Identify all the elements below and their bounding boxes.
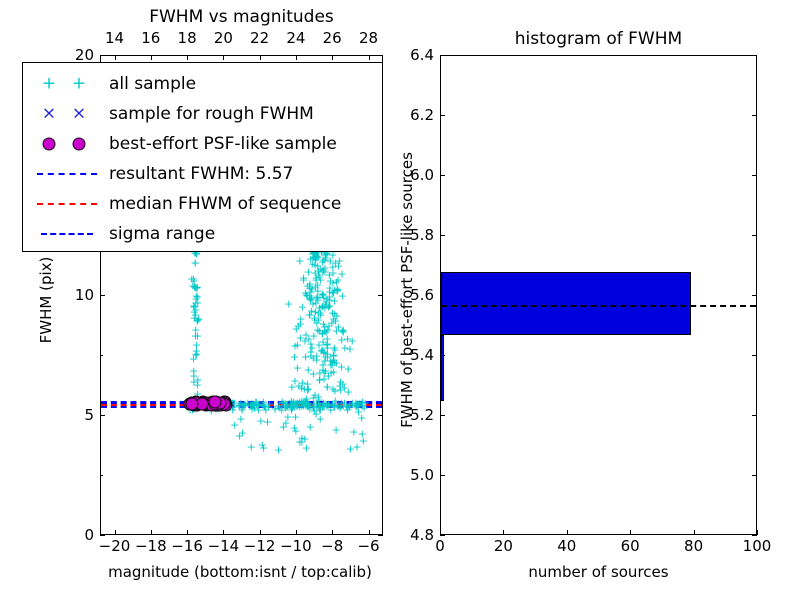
all-sample-point: + [290,423,299,434]
all-sample-point: + [331,257,340,268]
right-x-tick: 100 [743,538,772,554]
all-sample-point: + [336,384,345,395]
all-sample-point: + [312,317,321,328]
all-sample-point: + [310,314,319,325]
all-sample-point: + [193,298,202,309]
left-bottom-tick: −6 [357,538,379,554]
legend-glyph-icon: × [42,106,56,123]
all-sample-point: + [312,253,321,264]
all-sample-point: + [319,373,328,384]
all-sample-point: + [291,412,300,423]
right-x-tick: 0 [435,538,445,554]
legend-item[interactable]: sigma range [31,219,372,249]
all-sample-point: + [305,293,314,304]
legend-item[interactable]: ++all sample [31,69,372,99]
all-sample-point: + [316,264,325,275]
all-sample-point: + [358,429,367,440]
all-sample-point: + [348,336,357,347]
all-sample-point: + [301,352,310,363]
all-sample-point: + [332,277,341,288]
all-sample-point: + [304,333,313,344]
all-sample-point: + [311,274,320,285]
legend-item-label: all sample [105,74,196,94]
all-sample-point: + [318,301,327,312]
all-sample-point: + [315,367,324,378]
all-sample-point: + [192,340,201,351]
all-sample-point: + [332,310,341,321]
all-sample-point: + [294,320,303,331]
all-sample-point: + [311,281,320,292]
all-sample-point: + [319,292,328,303]
all-sample-point: + [318,359,327,370]
all-sample-point: + [330,344,339,355]
all-sample-point: + [308,259,317,270]
all-sample-point: + [322,296,331,307]
legend-marker-line-dashed [31,191,105,217]
legend-item-label: sigma range [105,224,215,244]
all-sample-point: + [313,260,322,271]
all-sample-point: + [189,274,198,285]
all-sample-point: + [301,330,310,341]
all-sample-point: + [310,312,319,323]
psf-sample-point [208,395,221,408]
all-sample-point: + [345,343,354,354]
all-sample-point: + [302,442,311,453]
all-sample-point: + [304,365,313,376]
all-sample-point: + [337,334,346,345]
all-sample-point: + [263,417,272,428]
all-sample-point: + [301,288,310,299]
all-sample-point: + [325,269,334,280]
all-sample-point: + [291,426,300,437]
all-sample-point: + [190,257,199,268]
all-sample-point: + [331,316,340,327]
all-sample-point: + [329,367,338,378]
legend[interactable]: ++all sample××sample for rough FWHMbest-… [22,62,383,252]
right-ytick-mark-right [752,535,757,536]
all-sample-point: + [344,363,353,374]
all-sample-point: + [333,284,342,295]
all-sample-point: + [318,328,327,339]
all-sample-point: + [329,349,338,360]
all-sample-point: + [314,251,323,262]
all-sample-point: + [327,359,336,370]
all-sample-point: + [190,302,199,313]
all-sample-point: + [315,271,324,282]
all-sample-point: + [238,428,247,439]
all-sample-point: + [326,368,335,379]
all-sample-point: + [318,288,327,299]
all-sample-point: + [359,436,368,447]
all-sample-point: + [298,378,307,389]
left-y-tick: 5 [60,407,94,423]
all-sample-point: + [319,367,328,378]
all-sample-point: + [193,375,202,386]
all-sample-point: + [325,283,334,294]
all-sample-point: + [307,306,316,317]
all-sample-point: + [192,346,201,357]
all-sample-point: + [306,351,315,362]
all-sample-point: + [305,282,314,293]
all-sample-point: + [258,440,267,451]
all-sample-point: + [331,425,340,436]
all-sample-point: + [191,324,200,335]
all-sample-point: + [310,259,319,270]
left-panel-title: FWHM vs magnitudes [100,8,383,27]
right-axes-frame [440,55,757,535]
all-sample-point: + [188,281,197,292]
all-sample-point: + [311,307,320,318]
all-sample-point: + [322,340,331,351]
all-sample-point: + [311,255,320,266]
all-sample-point: + [318,345,327,356]
all-sample-point: + [189,366,198,377]
all-sample-point: + [316,413,325,424]
all-sample-point: + [326,256,335,267]
all-sample-point: + [193,281,202,292]
left-top-tick: 16 [141,30,160,46]
all-sample-point: + [311,298,320,309]
all-sample-point: + [235,430,244,441]
all-sample-point: + [328,268,337,279]
all-sample-point: + [320,263,329,274]
all-sample-point: + [189,370,198,381]
all-sample-point: + [338,378,347,389]
all-sample-point: + [314,269,323,280]
all-sample-point: + [332,326,341,337]
left-y-tick: 0 [60,527,94,543]
all-sample-point: + [300,335,309,346]
legend-item[interactable]: median FHWM of sequence [31,189,372,219]
all-sample-point: + [330,357,339,368]
right-x-tick: 20 [494,538,513,554]
right-panel-title: histogram of FWHM [440,30,757,49]
all-sample-point: + [303,281,312,292]
left-y-tick: 10 [60,287,94,303]
all-sample-point: + [300,433,309,444]
all-sample-point: + [193,380,202,391]
all-sample-point: + [326,360,335,371]
legend-dot-icon [43,138,56,151]
right-panel: histogram of FWHM 020406080100 4.85.05.2… [400,0,800,600]
all-sample-point: + [330,385,339,396]
all-sample-point: + [292,324,301,335]
left-bottom-tick: −10 [280,538,312,554]
all-sample-point: + [307,283,316,294]
all-sample-point: + [322,294,331,305]
all-sample-point: + [190,312,199,323]
left-ytick-mark [100,535,105,536]
all-sample-point: + [296,332,305,343]
all-sample-point: + [293,339,302,350]
all-sample-point: + [310,252,319,263]
left-bottom-tick: −8 [321,538,343,554]
all-sample-point: + [312,351,321,362]
all-sample-point: + [328,384,337,395]
all-sample-point: + [317,301,326,312]
all-sample-point: + [337,268,346,279]
all-sample-point: + [290,351,299,362]
all-sample-point: + [346,443,355,454]
all-sample-point: + [325,301,334,312]
all-sample-point: + [312,293,321,304]
all-sample-point: + [307,342,316,353]
legend-item[interactable]: resultant FWHM: 5.57 [31,159,372,189]
all-sample-point: + [322,326,331,337]
all-sample-point: + [343,334,352,345]
all-sample-point: + [320,325,329,336]
histogram-bar [441,272,691,335]
all-sample-point: + [191,281,200,292]
all-sample-point: + [303,291,312,302]
all-sample-point: + [340,383,349,394]
left-top-tick: 20 [214,30,233,46]
all-sample-point: + [284,298,293,309]
legend-item-label: median FHWM of sequence [105,194,341,214]
all-sample-point: + [290,376,299,387]
all-sample-point: + [274,444,283,455]
all-sample-point: + [326,275,335,286]
left-top-tick: 28 [359,30,378,46]
all-sample-point: + [306,347,315,358]
all-sample-point: + [190,281,199,292]
all-sample-point: + [321,253,330,264]
all-sample-point: + [302,290,311,301]
legend-marker-marker-dot [31,131,105,157]
all-sample-point: + [319,319,328,330]
all-sample-point: + [310,267,319,278]
all-sample-point: + [299,273,308,284]
legend-item-label: resultant FWHM: 5.57 [105,164,293,184]
all-sample-point: + [320,321,329,332]
right-xtick-mark [757,530,758,535]
all-sample-point: + [313,252,322,263]
all-sample-point: + [319,348,328,359]
all-sample-point: + [320,267,329,278]
all-sample-point: + [337,361,346,372]
all-sample-point: + [315,375,324,386]
all-sample-point: + [329,351,338,362]
all-sample-point: + [309,369,318,380]
all-sample-point: + [328,287,337,298]
all-sample-point: + [315,302,324,313]
all-sample-point: + [325,294,334,305]
all-sample-point: + [236,413,245,424]
all-sample-point: + [191,294,200,305]
all-sample-point: + [321,352,330,363]
all-sample-point: + [306,339,315,350]
all-sample-point: + [307,292,316,303]
right-xaxis-label: number of sources [440,564,757,581]
all-sample-point: + [318,328,327,339]
legend-marker-marker-cross: ×× [31,101,105,127]
all-sample-point: + [311,409,320,420]
legend-item[interactable]: best-effort PSF-like sample [31,129,372,159]
all-sample-point: + [319,265,328,276]
left-bottom-tick: −12 [244,538,276,554]
all-sample-point: + [306,294,315,305]
all-sample-point: + [283,411,292,422]
all-sample-point: + [323,349,332,360]
all-sample-point: + [281,417,290,428]
legend-item-label: best-effort PSF-like sample [105,134,337,154]
legend-rows: ++all sample××sample for rough FWHMbest-… [31,69,372,249]
left-bottom-tick: −20 [99,538,131,554]
all-sample-point: + [319,254,328,265]
all-sample-point: + [308,299,317,310]
all-sample-point: + [314,307,323,318]
all-sample-point: + [311,251,320,262]
all-sample-point: + [256,415,265,426]
all-sample-point: + [189,301,198,312]
all-sample-point: + [290,341,299,352]
all-sample-point: + [230,419,239,430]
all-sample-point: + [247,441,256,452]
all-sample-point: + [325,287,334,298]
reference-line-sigma-range-high [101,401,382,403]
legend-glyph-icon: × [72,106,86,123]
all-sample-point: + [193,314,202,325]
all-sample-point: + [328,277,337,288]
left-panel: FWHM vs magnitudes 1416182022242628 −20−… [0,0,400,600]
legend-item-label: sample for rough FWHM [105,104,314,124]
resultant-fwhm-dashed-line [441,305,756,307]
all-sample-point: + [312,251,321,262]
legend-item[interactable]: ××sample for rough FWHM [31,99,372,129]
all-sample-point: + [323,338,332,349]
legend-line-icon [37,203,97,205]
all-sample-point: + [192,283,201,294]
all-sample-point: + [300,383,309,394]
right-x-tick: 80 [684,538,703,554]
all-sample-point: + [313,286,322,297]
all-sample-point: + [299,274,308,285]
all-sample-point: + [318,256,327,267]
all-sample-point: + [312,355,321,366]
left-bottom-tick: −16 [171,538,203,554]
all-sample-point: + [324,301,333,312]
all-sample-point: + [339,325,348,336]
all-sample-point: + [191,298,200,309]
psf-sample-point [186,397,199,410]
all-sample-point: + [321,298,330,309]
all-sample-point: + [344,387,353,398]
all-sample-point: + [189,376,198,387]
all-sample-point: + [303,385,312,396]
all-sample-point: + [191,350,200,361]
all-sample-point: + [349,427,358,438]
reference-line-sigma-range-low [101,406,382,408]
all-sample-point: + [324,370,333,381]
all-sample-point: + [323,351,332,362]
right-yaxis-label: FWHM of best-effort PSF-like sources [399,50,416,530]
all-sample-point: + [295,437,304,448]
all-sample-point: + [326,355,335,366]
all-sample-point: + [320,254,329,265]
all-sample-point: + [187,274,196,285]
all-sample-point: + [192,348,201,359]
left-top-tick: 22 [250,30,269,46]
all-sample-point: + [316,307,325,318]
all-sample-point: + [297,437,306,448]
legend-glyph-icon: + [72,76,86,93]
all-sample-point: + [316,310,325,321]
all-sample-point: + [304,383,313,394]
all-sample-point: + [314,339,323,350]
all-sample-point: + [305,278,314,289]
all-sample-point: + [315,375,324,386]
all-sample-point: + [334,261,343,272]
all-sample-point: + [330,295,339,306]
all-sample-point: + [322,381,331,392]
all-sample-point: + [304,267,313,278]
legend-marker-line-dashed [31,161,105,187]
all-sample-point: + [295,255,304,266]
all-sample-point: + [298,301,307,312]
all-sample-point: + [319,347,328,358]
all-sample-point: + [333,285,342,296]
all-sample-point: + [318,337,327,348]
all-sample-point: + [310,390,319,401]
all-sample-point: + [320,303,329,314]
all-sample-point: + [191,310,200,321]
all-sample-point: + [318,267,327,278]
right-x-tick: 60 [621,538,640,554]
all-sample-point: + [191,257,200,268]
all-sample-point: + [323,325,332,336]
all-sample-point: + [323,382,332,393]
legend-dot-icon [73,138,86,151]
all-sample-point: + [323,333,332,344]
all-sample-point: + [336,376,345,387]
all-sample-point: + [305,309,314,320]
all-sample-point: + [305,281,314,292]
all-sample-point: + [338,290,347,301]
right-data-area [441,56,756,534]
all-sample-point: + [318,365,327,376]
right-x-tick: 40 [557,538,576,554]
all-sample-point: + [193,292,202,303]
left-top-tick: 24 [286,30,305,46]
all-sample-point: + [306,422,315,433]
all-sample-point: + [328,307,337,318]
all-sample-point: + [332,358,341,369]
all-sample-point: + [325,301,334,312]
all-sample-point: + [193,330,202,341]
all-sample-point: + [259,443,268,454]
all-sample-point: + [191,330,200,341]
all-sample-point: + [293,362,302,373]
all-sample-point: + [313,325,322,336]
all-sample-point: + [313,280,322,291]
all-sample-point: + [335,255,344,266]
left-xaxis-label: magnitude (bottom:isnt / top:calib) [60,564,420,581]
all-sample-point: + [321,366,330,377]
all-sample-point: + [333,283,342,294]
left-ytick-mark-right [378,535,383,536]
all-sample-point: + [330,343,339,354]
right-ytick-mark [440,535,445,536]
all-sample-point: + [313,295,322,306]
all-sample-point: + [297,383,306,394]
all-sample-point: + [192,315,201,326]
all-sample-point: + [297,433,306,444]
all-sample-point: + [191,283,200,294]
all-sample-point: + [340,343,349,354]
all-sample-point: + [312,273,321,284]
all-sample-point: + [352,441,361,452]
all-sample-point: + [339,327,348,338]
